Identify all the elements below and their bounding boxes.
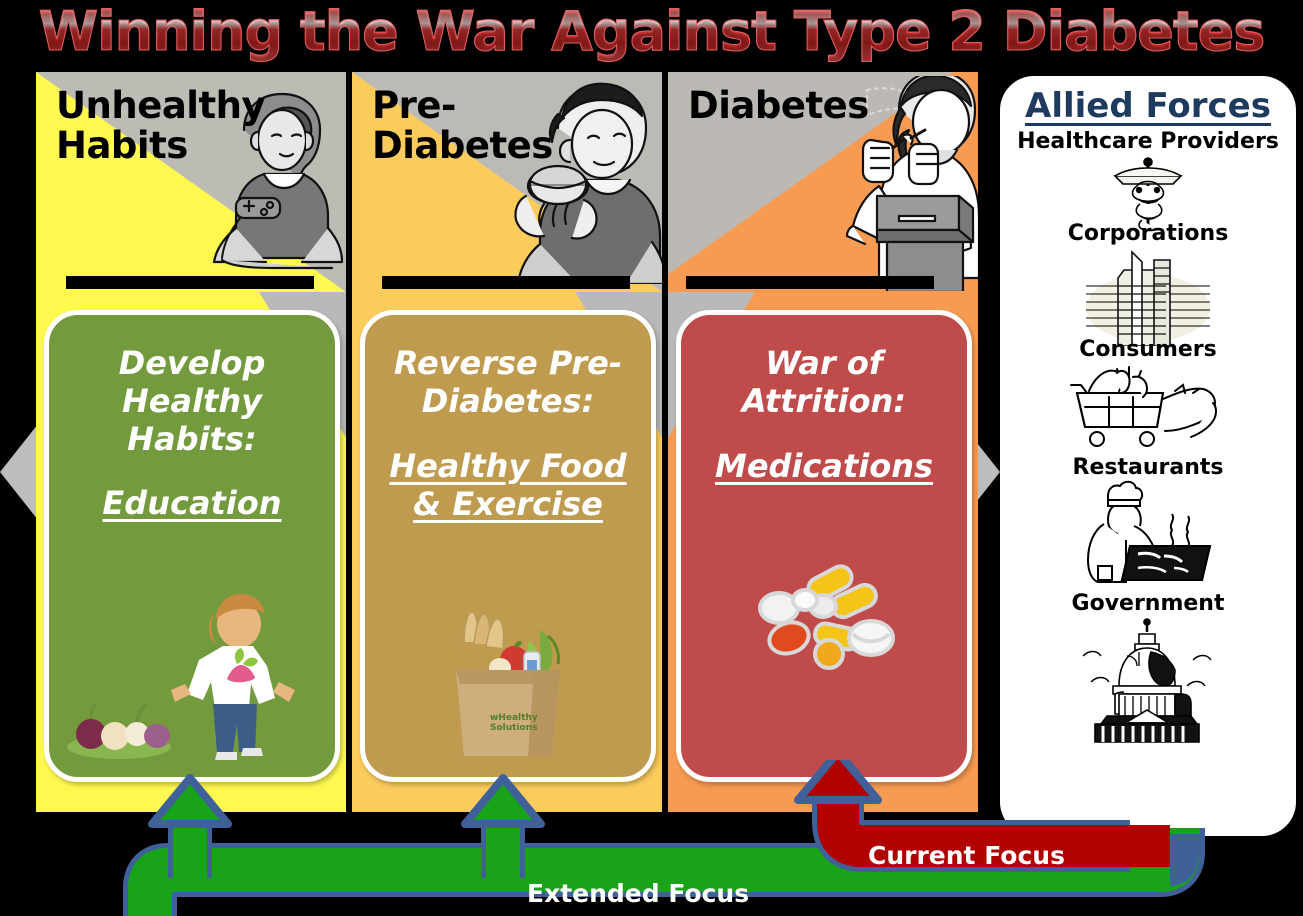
stage-1-divider bbox=[66, 276, 314, 289]
svg-text:Solutions: Solutions bbox=[490, 723, 538, 733]
ally-label: Healthcare Providers bbox=[1017, 130, 1279, 154]
ally-government[interactable]: Government bbox=[1063, 592, 1233, 744]
stage-3-band: Diabetes bbox=[668, 72, 978, 292]
ally-label: Corporations bbox=[1068, 222, 1229, 246]
stage-3-divider bbox=[686, 276, 934, 289]
stage-3-heading: Diabetes bbox=[688, 86, 869, 126]
left-chevron-icon bbox=[0, 424, 38, 520]
child-running-with-vegetables-icon bbox=[67, 584, 317, 769]
ally-restaurants[interactable]: Restaurants bbox=[1073, 456, 1224, 590]
stage-1-band: Unhealthy Habits bbox=[36, 72, 346, 292]
action-card-healthy-food[interactable]: Reverse Pre- Diabetes: Healthy Food & Ex… bbox=[360, 310, 656, 782]
page-title: Winning the War Against Type 2 Diabetes bbox=[0, 0, 1303, 62]
svg-text:wHealthy: wHealthy bbox=[490, 713, 538, 723]
chef-grilling-icon bbox=[1078, 480, 1218, 590]
stage-diabetes: Diabetes War of Attrition: Medications bbox=[668, 72, 978, 812]
ally-label: Government bbox=[1072, 592, 1225, 616]
card-1-sub: Education bbox=[102, 484, 281, 522]
current-focus-label: Current Focus bbox=[868, 841, 1065, 870]
grocery-bag-with-produce-icon: wHealthy Solutions bbox=[408, 564, 608, 769]
action-card-education[interactable]: Develop Healthy Habits: Education bbox=[44, 310, 340, 782]
stage-2-band: Pre- Diabetes bbox=[352, 72, 662, 292]
card-2-title: Reverse Pre- Diabetes: bbox=[394, 345, 622, 421]
stage-2-divider bbox=[382, 276, 630, 289]
ally-healthcare-providers[interactable]: Healthcare Providers bbox=[1017, 130, 1279, 234]
card-2-sub: Healthy Food & Exercise bbox=[389, 447, 626, 524]
ally-label: Restaurants bbox=[1073, 456, 1224, 480]
stage-1-heading: Unhealthy Habits bbox=[56, 86, 265, 166]
stage-pre-diabetes: Pre- Diabetes Reverse Pre- Diabetes: Hea… bbox=[352, 72, 662, 812]
stage-unhealthy-habits: Unhealthy Habits Develop Healthy Habits:… bbox=[36, 72, 346, 812]
office-tower-icon bbox=[1078, 246, 1218, 346]
stage-2-heading: Pre- Diabetes bbox=[372, 86, 553, 166]
shopping-cart-icon bbox=[1063, 363, 1233, 458]
card-1-title: Develop Healthy Habits: bbox=[119, 345, 266, 458]
allied-forces-panel: Allied Forces Healthcare Providers Corpo… bbox=[1000, 76, 1296, 836]
assorted-pills-icon bbox=[719, 542, 929, 687]
card-3-title: War of Attrition: bbox=[742, 345, 906, 421]
allied-forces-title: Allied Forces bbox=[1025, 86, 1271, 126]
capitol-building-icon bbox=[1063, 616, 1233, 744]
ally-corporations[interactable]: Corporations bbox=[1068, 222, 1229, 346]
ally-label: Consumers bbox=[1079, 338, 1216, 362]
card-3-sub: Medications bbox=[715, 447, 933, 485]
action-card-medications[interactable]: War of Attrition: Medications bbox=[676, 310, 972, 782]
ally-consumers[interactable]: Consumers bbox=[1063, 338, 1233, 457]
extended-focus-label: Extended Focus bbox=[527, 879, 749, 908]
